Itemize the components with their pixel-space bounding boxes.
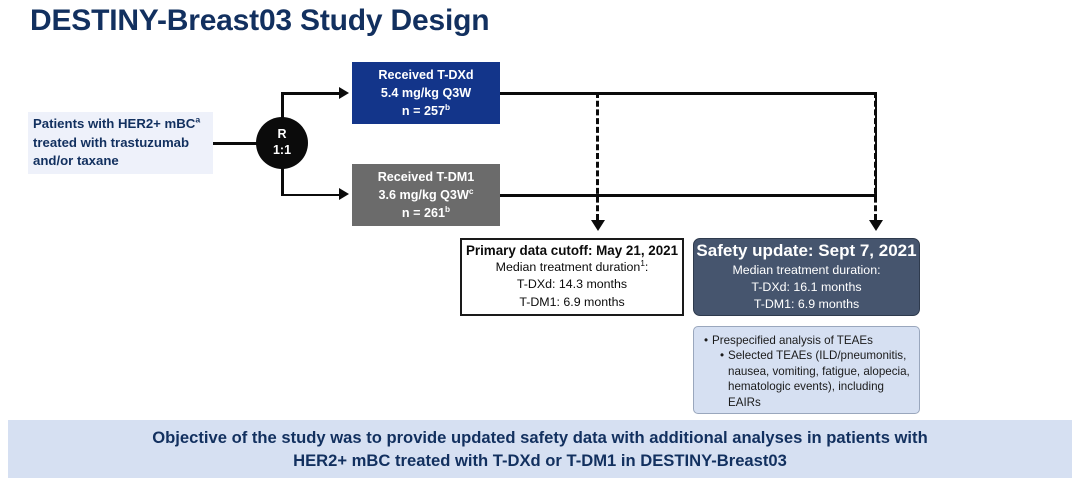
teae-bullet-secondary-text: Selected TEAEs (ILD/pneumonitis, nausea,…	[728, 348, 910, 410]
objective-line-2: HER2+ mBC treated with T-DXd or T-DM1 in…	[293, 449, 787, 472]
primary-cutoff-row-t-dm1: T-DM1: 6.9 months	[519, 294, 624, 311]
t-dm1-footnote-c: c	[469, 186, 474, 196]
population-footnote-a: a	[195, 115, 200, 125]
patient-population-text: Patients with HER2+ mBCa treated with tr…	[33, 115, 200, 171]
t-dxd-line-2: 5.4 mg/kg Q3W	[381, 84, 471, 102]
teae-bullet-secondary: • Selected TEAEs (ILD/pneumonitis, nause…	[716, 348, 911, 410]
randomization-ratio: 1:1	[273, 143, 291, 159]
bullet-dot-icon: •	[700, 333, 712, 348]
safety-update-box: Safety update: Sept 7, 2021 Median treat…	[693, 238, 920, 316]
population-line-2: treated with trastuzumab	[33, 135, 189, 150]
arrowhead-to-primary-cutoff	[591, 220, 605, 231]
teae-analysis-box: • Prespecified analysis of TEAEs • Selec…	[693, 326, 920, 414]
randomization-label: R	[277, 127, 286, 143]
t-dxd-dose: 5.4 mg/kg Q3W	[381, 86, 471, 100]
connector-branch-down-vertical	[281, 166, 284, 196]
connector-population-to-randomization	[213, 142, 258, 145]
t-dm1-line-2: 3.6 mg/kg Q3Wc	[379, 186, 474, 204]
dashed-connector-primary-cutoff	[596, 92, 599, 220]
t-dxd-arm-box: Received T-DXd 5.4 mg/kg Q3W n = 257b	[352, 62, 500, 124]
connector-branch-up-vertical	[281, 92, 284, 122]
t-dxd-n: n = 257	[402, 104, 445, 118]
teae-bullet-primary: • Prespecified analysis of TEAEs	[700, 333, 911, 348]
population-line-1: Patients with HER2+ mBC	[33, 116, 195, 131]
connector-branch-down-horizontal	[281, 194, 339, 197]
study-design-diagram: DESTINY-Breast03 Study Design Patients w…	[0, 0, 1080, 485]
t-dm1-dose: 3.6 mg/kg Q3W	[379, 188, 469, 202]
t-dxd-line-3: n = 257b	[402, 102, 450, 120]
timeline-rail-t-dm1	[500, 194, 877, 197]
t-dm1-line-1: Received T-DM1	[378, 168, 475, 186]
patient-population-box: Patients with HER2+ mBCa treated with tr…	[28, 112, 213, 174]
safety-update-subheading: Median treatment duration:	[732, 262, 880, 279]
safety-update-heading: Safety update: Sept 7, 2021	[696, 241, 916, 261]
safety-update-row-t-dxd: T-DXd: 16.1 months	[751, 279, 861, 296]
bullet-dot-icon: •	[716, 348, 728, 410]
t-dxd-line-1: Received T-DXd	[378, 66, 473, 84]
primary-cutoff-subheading: Median treatment duration1:	[496, 259, 649, 276]
arrowhead-to-t-dxd-arm	[339, 87, 349, 99]
randomization-node: R 1:1	[256, 117, 308, 169]
arrowhead-to-safety-update	[869, 220, 883, 231]
t-dm1-line-3: n = 261b	[402, 204, 450, 222]
primary-data-cutoff-box: Primary data cutoff: May 21, 2021 Median…	[460, 238, 684, 316]
primary-cutoff-row-t-dxd: T-DXd: 14.3 months	[517, 276, 627, 293]
objective-line-1: Objective of the study was to provide up…	[152, 426, 927, 449]
objective-banner: Objective of the study was to provide up…	[8, 420, 1072, 478]
safety-update-row-t-dm1: T-DM1: 6.9 months	[754, 296, 859, 313]
dashed-connector-safety-update	[874, 92, 877, 220]
t-dxd-footnote-b: b	[445, 102, 450, 112]
arrowhead-to-t-dm1-arm	[339, 188, 349, 200]
primary-cutoff-heading: Primary data cutoff: May 21, 2021	[466, 243, 678, 258]
t-dm1-n: n = 261	[402, 206, 445, 220]
timeline-rail-t-dxd	[500, 92, 877, 95]
t-dm1-footnote-b: b	[445, 204, 450, 214]
connector-branch-up-horizontal	[281, 92, 339, 95]
teae-bullet-primary-text: Prespecified analysis of TEAEs	[712, 333, 873, 348]
t-dm1-arm-box: Received T-DM1 3.6 mg/kg Q3Wc n = 261b	[352, 164, 500, 226]
page-title: DESTINY-Breast03 Study Design	[30, 4, 489, 38]
population-line-3: and/or taxane	[33, 153, 119, 168]
